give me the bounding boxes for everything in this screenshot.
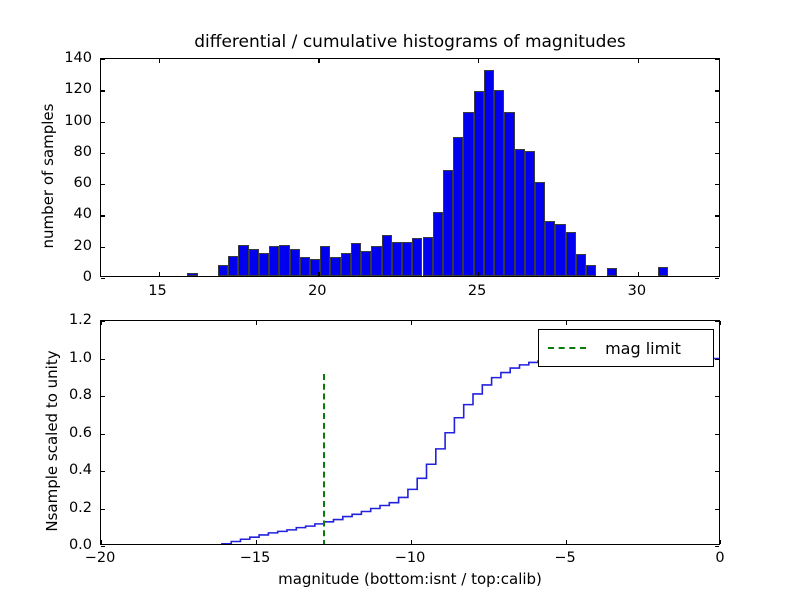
y-tick [715, 215, 719, 216]
histogram-bar [402, 242, 412, 276]
cumulative-histogram-axes: mag limit [100, 320, 720, 545]
x-tick-label: 30 [628, 283, 646, 299]
histogram-bar [279, 245, 289, 276]
histogram-bar [290, 249, 300, 276]
y-tick-label: 0 [83, 269, 92, 285]
y-tick [101, 278, 105, 279]
x-tick-label: −10 [395, 550, 426, 566]
histogram-bar [259, 253, 269, 276]
y-tick [101, 396, 105, 397]
histogram-bar [269, 246, 279, 276]
x-tick [720, 321, 721, 325]
y-tick [101, 359, 105, 360]
y-tick [715, 122, 719, 123]
histogram-bar [525, 151, 535, 276]
y-tick [715, 59, 719, 60]
mag-limit-legend-label: mag limit [586, 339, 704, 358]
x-tick-label: 15 [148, 283, 166, 299]
histogram-bar [484, 70, 494, 276]
y-tick-label: 100 [64, 113, 92, 129]
histogram-x-tick-labels: 15202530 [100, 283, 720, 303]
histogram-bar [187, 273, 197, 276]
histogram-bar [341, 253, 351, 276]
y-tick-label: 0.4 [69, 462, 92, 478]
histogram-bar [412, 238, 422, 276]
cumulative-x-axis-label: magnitude (bottom:isnt / top:calib) [100, 570, 720, 588]
y-tick-label: 80 [74, 144, 92, 160]
y-tick-label: 140 [64, 50, 92, 66]
y-tick [101, 59, 105, 60]
histogram-bar [423, 237, 433, 276]
x-tick-label: 25 [468, 283, 486, 299]
x-tick [318, 272, 319, 276]
histogram-plot-area [101, 59, 719, 276]
histogram-bar [392, 242, 402, 276]
y-tick [715, 396, 719, 397]
y-tick [101, 184, 105, 185]
x-tick [159, 272, 160, 276]
y-tick [101, 153, 105, 154]
histogram-y-axis-label: number of samples [39, 66, 57, 286]
histogram-bar [535, 182, 545, 276]
histogram-bar [576, 254, 586, 276]
histogram-bar [371, 246, 381, 276]
histogram-bar [494, 90, 504, 276]
y-tick [101, 471, 105, 472]
y-tick [715, 153, 719, 154]
histogram-bar [586, 265, 596, 276]
x-tick [256, 321, 257, 325]
x-tick [478, 59, 479, 63]
histogram-bar [218, 265, 228, 276]
y-tick-label: 1.2 [69, 312, 92, 328]
legend: mag limit [538, 329, 714, 367]
y-tick [715, 359, 719, 360]
x-tick [720, 540, 721, 544]
y-tick-label: 1.0 [69, 350, 92, 366]
y-tick [101, 90, 105, 91]
y-tick [715, 321, 719, 322]
y-tick-label: 120 [64, 81, 92, 97]
histogram-bar [228, 256, 238, 276]
histogram-bar [382, 235, 392, 276]
x-tick [159, 59, 160, 63]
x-tick [101, 321, 102, 325]
histogram-bar [607, 268, 617, 276]
y-tick-label: 0.6 [69, 425, 92, 441]
x-tick [101, 540, 102, 544]
y-tick-label: 0.2 [69, 500, 92, 516]
histogram-bar [504, 112, 514, 276]
y-tick [101, 434, 105, 435]
histogram-bar [433, 212, 443, 276]
histogram-bar [361, 251, 371, 276]
histogram-bar [330, 257, 340, 276]
histogram-bar [555, 224, 565, 276]
y-tick [715, 471, 719, 472]
histogram-bar [658, 267, 668, 276]
cumulative-y-axis-label: Nsample scaled to unity [43, 321, 61, 561]
x-tick [638, 59, 639, 63]
x-tick [478, 272, 479, 276]
x-tick [256, 540, 257, 544]
y-tick [715, 90, 719, 91]
y-tick-label: 20 [74, 238, 92, 254]
x-tick-label: 20 [308, 283, 326, 299]
differential-histogram-axes [100, 58, 720, 277]
y-tick [715, 546, 719, 547]
page-title: differential / cumulative histograms of … [100, 32, 720, 52]
y-tick [101, 215, 105, 216]
y-tick [101, 509, 105, 510]
mag-limit-line [323, 374, 325, 545]
x-tick [411, 540, 412, 544]
y-tick [101, 247, 105, 248]
y-tick [715, 247, 719, 248]
y-tick-label: 40 [74, 206, 92, 222]
cumulative-x-tick-labels: −20−15−10−50 [100, 550, 720, 570]
y-tick [101, 546, 105, 547]
histogram-bar [453, 137, 463, 276]
histogram-bar [515, 149, 525, 276]
y-tick [715, 434, 719, 435]
histogram-bar [463, 112, 473, 276]
y-tick [101, 122, 105, 123]
histogram-bar [566, 232, 576, 276]
mag-limit-legend-swatch [548, 347, 586, 349]
histogram-bar [474, 91, 484, 276]
histogram-bar [300, 257, 310, 276]
y-tick [715, 184, 719, 185]
y-tick [715, 509, 719, 510]
x-tick-label: −15 [240, 550, 271, 566]
x-tick [566, 321, 567, 325]
histogram-bar [238, 245, 248, 276]
y-tick-label: 0.8 [69, 387, 92, 403]
histogram-bar [351, 243, 361, 276]
x-tick-label: 0 [715, 550, 724, 566]
x-tick [411, 321, 412, 325]
x-tick-label: −20 [85, 550, 116, 566]
histogram-bar [443, 170, 453, 276]
histogram-bar [320, 246, 330, 276]
figure-canvas: differential / cumulative histograms of … [0, 0, 800, 600]
x-tick [318, 59, 319, 63]
x-tick [638, 272, 639, 276]
x-tick [566, 540, 567, 544]
histogram-bar [545, 221, 555, 276]
y-tick-label: 60 [74, 175, 92, 191]
x-tick-label: −5 [554, 550, 575, 566]
y-tick [715, 278, 719, 279]
histogram-bar [249, 249, 259, 276]
